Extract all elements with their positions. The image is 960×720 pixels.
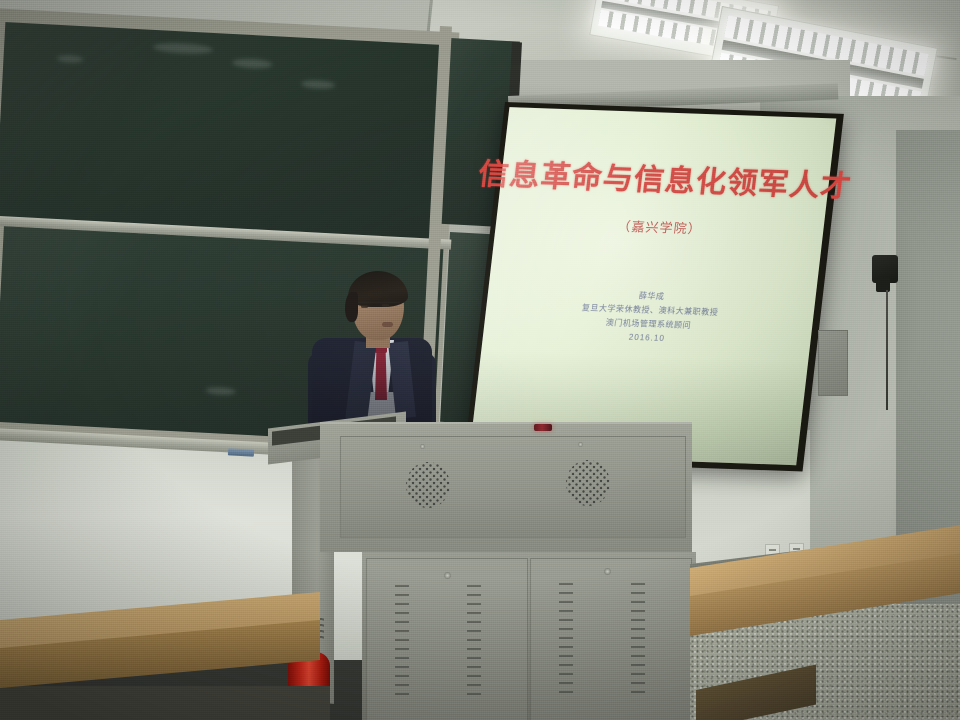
projection-screen-surface: 信息革命与信息化领军人才 （嘉兴学院） 薛华成 复旦大学荣休教授、澳科大兼职教授…	[469, 107, 836, 465]
lecture-hall-photo: 信息革命与信息化领军人才 （嘉兴学院） 薛华成 复旦大学荣休教授、澳科大兼职教授…	[0, 0, 960, 720]
presenter-eye-left	[361, 305, 368, 308]
lectern-front-panel	[340, 436, 686, 538]
cabinet-door-right[interactable]	[530, 558, 692, 720]
wall-junction-box	[818, 330, 848, 396]
presenter-hair-side	[345, 292, 358, 322]
vent-slots	[467, 585, 481, 695]
speaker-grille-right	[566, 460, 610, 506]
panel-screw	[420, 444, 425, 449]
presenter-eye-right	[382, 304, 389, 307]
vent-slots	[631, 583, 645, 693]
cabinet-lock-left[interactable]	[444, 572, 451, 579]
projection-screen: 信息革命与信息化领军人才 （嘉兴学院） 薛华成 复旦大学荣休教授、澳科大兼职教授…	[464, 102, 844, 471]
speaker-grille-left	[406, 462, 450, 508]
cabinet-lock-right[interactable]	[604, 568, 611, 575]
presenter-necktie	[375, 348, 387, 400]
floor-left-shadow	[0, 686, 330, 720]
presenter-mouth	[382, 322, 393, 327]
chalkboard-panel-upper	[0, 22, 443, 241]
vent-slots	[559, 583, 573, 693]
power-indicator-led[interactable]	[534, 424, 552, 431]
chalkboard-eraser[interactable]	[228, 448, 254, 456]
screen-light-falloff	[469, 107, 836, 465]
panel-screw	[578, 442, 583, 447]
vent-slots	[395, 585, 409, 695]
speaker-cable	[886, 290, 888, 410]
cabinet-door-left[interactable]	[366, 558, 528, 720]
